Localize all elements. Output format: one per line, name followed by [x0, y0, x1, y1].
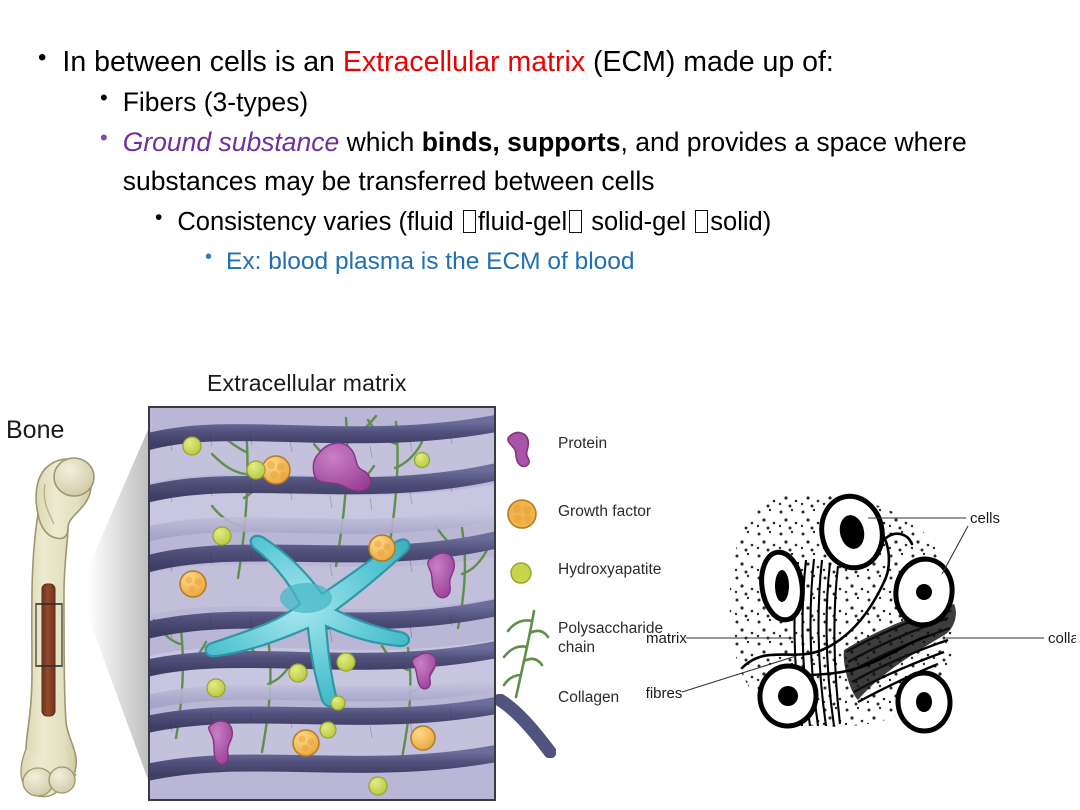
legend-label: Growth factor [558, 502, 651, 521]
bullet-text: Ground substance which binds, supports, … [123, 123, 1080, 201]
protein-blob-icon [500, 428, 544, 472]
collagen-fiber-icon [496, 694, 556, 758]
histology-label-cells: cells [970, 510, 1000, 527]
bullet-segment-example-blue: Ex: blood plasma is the ECM of blood [226, 248, 635, 275]
bullet-item-4: • Consistency varies (fluid fluid-gel so… [0, 203, 1080, 241]
bullet-segment-text: which [339, 127, 421, 157]
histology-label-elastic-fibres: c fibres [646, 685, 682, 702]
hydroxyapatite-dot-icon [508, 560, 534, 586]
bullet-segment-bold: binds, supports [422, 127, 621, 157]
legend-item-growth-factor: Growth factor [500, 502, 651, 521]
femur-bone-illustration [12, 444, 100, 804]
bullet-segment-text: In between cells is an [62, 46, 342, 78]
growth-factor-blob-icon [504, 496, 540, 532]
slide-text-block: • In between cells is an Extracellular m… [0, 0, 1080, 280]
bullet-segment-text: (ECM) made up of: [585, 46, 834, 78]
legend-label: Protein [558, 434, 607, 453]
legend-item-protein: Protein [500, 434, 607, 453]
bullet-marker: • [100, 83, 123, 109]
histology-label-collagen-fibres: collagen fibres [1048, 630, 1076, 647]
missing-glyph-box-icon [569, 210, 582, 233]
missing-glyph-box-icon [695, 210, 708, 233]
bullet-item-3: • Ground substance which binds, supports… [0, 123, 1080, 201]
connective-tissue-histology-diagram: cells matrix collagen fibres c fibres [646, 486, 1076, 736]
bullet-marker: • [155, 203, 177, 228]
bullet-segment-text: fluid-gel [478, 208, 567, 236]
bullet-segment-ground-substance: Ground substance [123, 127, 340, 157]
bullet-marker: • [205, 243, 226, 267]
bullet-marker: • [38, 42, 62, 70]
bullet-item-1: • In between cells is an Extracellular m… [0, 42, 1080, 82]
bullet-segment-text: Fibers (3-types) [123, 87, 309, 117]
bone-label: Bone [6, 416, 64, 445]
legend-item-hydroxyapatite: Hydroxyapatite [500, 560, 661, 579]
bullet-marker: • [100, 123, 123, 149]
histology-label-matrix: matrix [646, 630, 687, 647]
bullet-segment-text: Consistency varies (fluid [177, 208, 460, 236]
ecm-figure: Extracellular matrix Bone [0, 356, 1080, 810]
bullet-segment-text: solid-gel [584, 208, 693, 236]
missing-glyph-box-icon [463, 210, 476, 233]
ecm-diagram-title: Extracellular matrix [207, 370, 407, 397]
extracellular-matrix-panel [148, 406, 496, 801]
legend-item-collagen: Collagen [500, 688, 619, 707]
legend-label: Collagen [558, 688, 619, 707]
bullet-segment-text: solid) [710, 208, 771, 236]
bullet-item-2: • Fibers (3-types) [0, 83, 1080, 122]
bullet-text: Ex: blood plasma is the ECM of blood [226, 243, 1080, 280]
bullet-text: In between cells is an Extracellular mat… [62, 42, 1080, 82]
bullet-segment-highlight-red: Extracellular matrix [343, 46, 585, 78]
bullet-text: Consistency varies (fluid fluid-gel soli… [177, 203, 1080, 241]
bullet-text: Fibers (3-types) [123, 83, 1080, 122]
bullet-item-5: • Ex: blood plasma is the ECM of blood [0, 243, 1080, 280]
